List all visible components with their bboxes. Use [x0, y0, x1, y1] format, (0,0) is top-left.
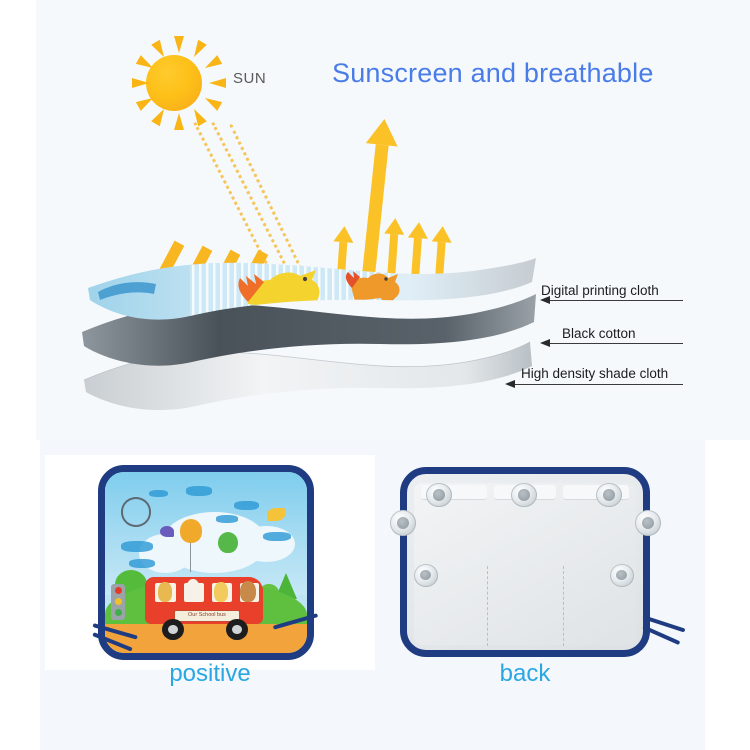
sun-label: SUN: [233, 70, 266, 87]
sun-ray: [190, 106, 207, 126]
layer-label-middle: Black cotton: [562, 326, 636, 341]
product-card-back: back: [385, 455, 715, 685]
bird-icon: [160, 526, 174, 537]
background-left-white-strip: [0, 0, 36, 440]
suction-cup-right-edge: [635, 510, 661, 536]
sun-ray: [202, 94, 222, 111]
layer-leader-line: [550, 300, 683, 301]
layer-leader-arrowhead: [505, 380, 515, 388]
doodle-scribble: [129, 559, 155, 568]
animal-giraffe: [158, 582, 172, 602]
animal-rabbit: [186, 579, 200, 603]
layer-label-bottom: High density shade cloth: [521, 366, 668, 381]
sun-ray: [174, 36, 184, 53]
arrow-head: [366, 117, 401, 146]
doodle-sun-icon: [121, 497, 151, 526]
butterfly-icon: [267, 508, 285, 521]
back-panel-surface: [414, 483, 636, 645]
sun-ray: [174, 113, 184, 130]
sunshade-front-image: Our School bus: [98, 465, 314, 660]
infographic-stage: SUN Sunscreen and breathable: [0, 0, 750, 750]
doodle-scribble: [121, 541, 153, 552]
sunshade-back-image: [400, 467, 650, 657]
sun-ray: [136, 94, 156, 111]
balloon-string: [190, 543, 191, 572]
layer-leader-line: [550, 343, 683, 344]
layer-leader-arrowhead: [540, 339, 550, 347]
suction-cup: [596, 483, 622, 508]
balloon-orange: [180, 519, 202, 543]
doodle-scribble: [263, 532, 291, 541]
layer-digital-printing-cloth: [88, 248, 536, 320]
suction-cup: [426, 483, 452, 508]
animal-bear: [240, 581, 256, 603]
back-seam: [487, 566, 488, 647]
suction-cup: [610, 564, 634, 587]
sun-ray: [209, 78, 226, 88]
sun-ray: [151, 106, 168, 126]
layer-leader-line: [515, 384, 683, 385]
sun-ray: [190, 40, 207, 60]
page-title: Sunscreen and breathable: [332, 58, 654, 89]
back-seam: [563, 566, 564, 647]
background-bottom-left-white-strip: [0, 440, 40, 750]
doodle-scribble: [234, 501, 258, 510]
layer-leader-arrowhead: [540, 296, 550, 304]
doodle-scribble: [149, 490, 167, 497]
layer-label-top: Digital printing cloth: [541, 283, 659, 298]
sun-ray: [202, 55, 222, 72]
bus-wheel: [162, 619, 184, 641]
suction-cup: [414, 564, 438, 587]
caption-front: positive: [45, 660, 375, 688]
sun-ray: [132, 78, 149, 88]
suction-cup-left-edge: [390, 510, 416, 536]
suction-cup: [511, 483, 537, 508]
fabric-layer-diagram: [80, 230, 540, 420]
doodle-scribble: [216, 515, 238, 522]
product-card-front: Our School bus positive: [45, 455, 375, 685]
animal-cat: [214, 582, 228, 602]
traffic-light-icon: [111, 584, 125, 620]
caption-back: back: [385, 660, 665, 688]
doodle-scribble: [186, 486, 212, 495]
